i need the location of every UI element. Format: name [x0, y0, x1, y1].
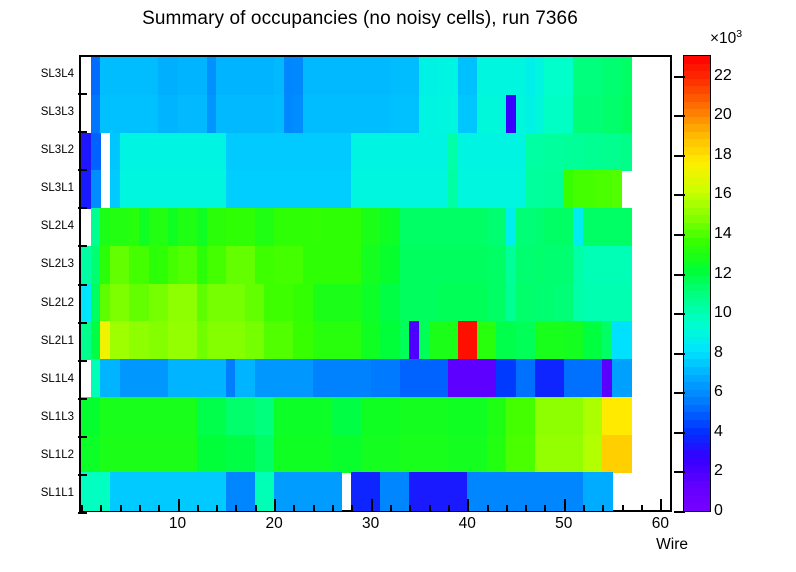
colorbar-tick: [674, 234, 685, 236]
x-axis-ticks: [79, 55, 672, 512]
colorbar-label-0: 0: [714, 502, 723, 520]
x-axis-tick-major: [274, 499, 276, 512]
x-axis-label-10: 10: [169, 515, 186, 533]
x-axis-tick-minor: [544, 505, 546, 512]
colorbar-tick: [674, 432, 685, 434]
x-axis-tick-major: [564, 499, 566, 512]
x-axis-tick-minor: [583, 505, 585, 512]
x-axis-title: Wire: [0, 536, 688, 554]
x-axis-tick-minor: [602, 505, 604, 512]
colorbar-exponent: ×103: [710, 28, 742, 48]
colorbar-label-22: 22: [714, 67, 732, 85]
colorbar-tick: [674, 392, 685, 394]
x-axis-tick-major: [178, 499, 180, 512]
x-axis-tick-minor: [197, 505, 199, 512]
x-axis-tick-minor: [525, 505, 527, 512]
x-axis-tick-minor: [216, 505, 218, 512]
x-axis-tick-minor: [622, 505, 624, 512]
x-axis-label-30: 30: [362, 515, 379, 533]
y-axis-tick: [78, 512, 87, 514]
x-axis-label-20: 20: [265, 515, 282, 533]
y-axis-label-sl1l3: SL1L3: [41, 411, 74, 423]
y-axis-labels: SL3L4SL3L3SL3L2SL3L1SL2L4SL2L3SL2L2SL2L1…: [0, 55, 74, 512]
y-axis-label-sl1l2: SL1L2: [41, 449, 74, 461]
x-axis-tick-major: [660, 499, 662, 512]
y-axis-label-sl3l1: SL3L1: [41, 182, 74, 194]
x-axis-tick-minor: [409, 505, 411, 512]
x-axis-tick-minor: [313, 505, 315, 512]
y-axis-label-sl3l3: SL3L3: [41, 106, 74, 118]
y-axis-label-sl2l1: SL2L1: [41, 335, 74, 347]
x-axis-tick-major: [467, 499, 469, 512]
y-axis-label-sl2l3: SL2L3: [41, 258, 74, 270]
y-axis-label-sl3l2: SL3L2: [41, 144, 74, 156]
colorbar-tick: [674, 511, 685, 513]
y-axis-label-sl2l2: SL2L2: [41, 297, 74, 309]
x-axis-tick-minor: [100, 505, 102, 512]
y-axis-label-sl1l1: SL1L1: [41, 487, 74, 499]
colorbar-label-6: 6: [714, 383, 723, 401]
x-axis-label-40: 40: [459, 515, 476, 533]
colorbar-labels: 0246810121416182022: [714, 55, 784, 512]
colorbar-label-14: 14: [714, 225, 732, 243]
colorbar-tick: [674, 194, 685, 196]
colorbar-label-16: 16: [714, 185, 732, 203]
colorbar-tick: [674, 76, 685, 78]
colorbar-tick: [674, 155, 685, 157]
x-axis-tick-minor: [255, 505, 257, 512]
x-axis-tick-major: [371, 499, 373, 512]
colorbar-tick: [674, 471, 685, 473]
chart-canvas: Summary of occupancies (no noisy cells),…: [0, 0, 796, 572]
y-axis-label-sl2l4: SL2L4: [41, 220, 74, 232]
y-axis-label-sl3l4: SL3L4: [41, 68, 74, 80]
x-axis-label-50: 50: [555, 515, 572, 533]
colorbar-label-18: 18: [714, 146, 732, 164]
colorbar-label-8: 8: [714, 344, 723, 362]
x-axis-tick-minor: [351, 505, 353, 512]
x-axis-tick-minor: [506, 505, 508, 512]
x-axis-tick-minor: [429, 505, 431, 512]
y-axis-label-sl1l4: SL1L4: [41, 373, 74, 385]
x-axis-tick-minor: [139, 505, 141, 512]
page-title: Summary of occupancies (no noisy cells),…: [0, 8, 720, 30]
colorbar-tick: [674, 274, 685, 276]
x-axis-tick-minor: [390, 505, 392, 512]
colorbar-tick: [674, 353, 685, 355]
x-axis-tick-minor: [158, 505, 160, 512]
x-axis-tick-minor: [120, 505, 122, 512]
x-axis-tick-minor: [81, 505, 83, 512]
x-axis-labels: 102030405060: [79, 515, 672, 537]
colorbar-label-2: 2: [714, 462, 723, 480]
colorbar-label-4: 4: [714, 423, 723, 441]
x-axis-tick-minor: [448, 505, 450, 512]
x-axis-tick-minor: [487, 505, 489, 512]
x-axis-tick-minor: [293, 505, 295, 512]
x-axis-tick-minor: [332, 505, 334, 512]
colorbar-tick: [674, 115, 685, 117]
colorbar-label-10: 10: [714, 304, 732, 322]
x-axis-tick-minor: [235, 505, 237, 512]
colorbar-tick: [674, 313, 685, 315]
colorbar-label-12: 12: [714, 265, 732, 283]
x-axis-label-60: 60: [652, 515, 669, 533]
colorbar-label-20: 20: [714, 106, 732, 124]
x-axis-tick-minor: [641, 505, 643, 512]
